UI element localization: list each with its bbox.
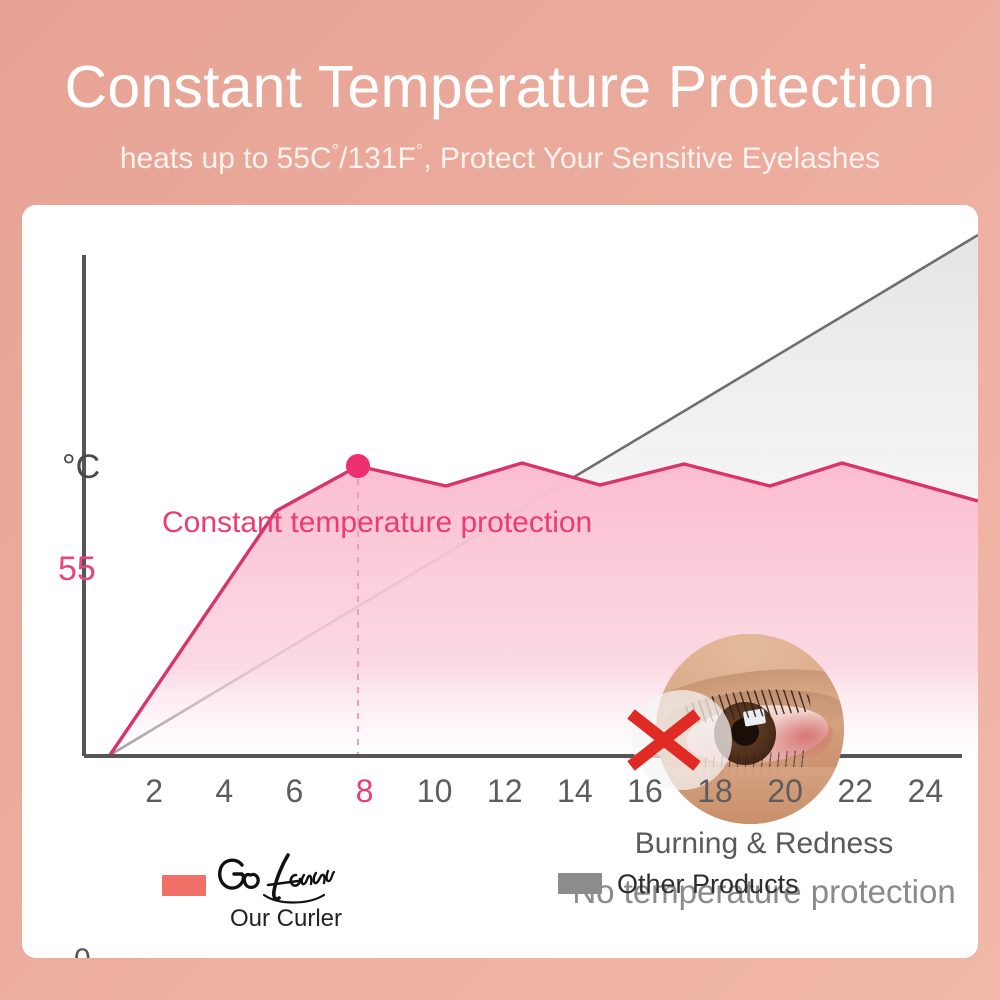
page-subtitle: heats up to 55C°/131F°, Protect Your Sen… <box>0 130 1000 180</box>
subtitle-part-3: , Protect Your Sensitive Eyelashes <box>423 142 880 175</box>
x-tick-6: 6 <box>285 773 303 810</box>
legend-swatch-our-curler <box>162 875 206 896</box>
page-title: Constant Temperature Protection <box>0 52 1000 122</box>
x-tick-18: 18 <box>697 773 733 810</box>
x-tick-22: 22 <box>837 773 873 810</box>
x-tick-16: 16 <box>627 773 663 810</box>
subtitle-part-1: heats up to 55C <box>120 142 332 175</box>
chart-card: °C 55 0 Constant temperature protection … <box>22 205 978 958</box>
y-axis-label: °C <box>62 448 100 487</box>
x-axis-tick-labels: 24681012141618202224 <box>0 773 1000 817</box>
chart-annotation: Constant temperature protection <box>162 506 592 540</box>
x-tick-2: 2 <box>145 773 163 810</box>
x-tick-10: 10 <box>417 773 453 810</box>
x-tick-4: 4 <box>215 773 233 810</box>
x-tick-8: 8 <box>356 773 374 810</box>
x-tick-14: 14 <box>557 773 593 810</box>
x-tick-20: 20 <box>767 773 803 810</box>
x-tick-12: 12 <box>487 773 523 810</box>
y-tick-55: 55 <box>58 550 96 589</box>
legend-label-other-products: Other Products <box>617 869 799 900</box>
legend-swatch-other-products <box>558 873 602 894</box>
x-tick-24: 24 <box>908 773 944 810</box>
page-header: Constant Temperature Protection heats up… <box>0 52 1000 180</box>
degree-symbol-1: ° <box>332 140 339 161</box>
peak-marker <box>346 454 370 478</box>
x-mark-icon <box>618 700 710 780</box>
legend-label-our-curler: Our Curler <box>206 905 366 933</box>
y-tick-0: 0 <box>74 943 91 958</box>
chart-legend: Our Curler Other Products <box>0 855 1000 945</box>
subtitle-part-2: /131F <box>339 142 416 175</box>
go-lash-brand-logo <box>212 851 362 911</box>
